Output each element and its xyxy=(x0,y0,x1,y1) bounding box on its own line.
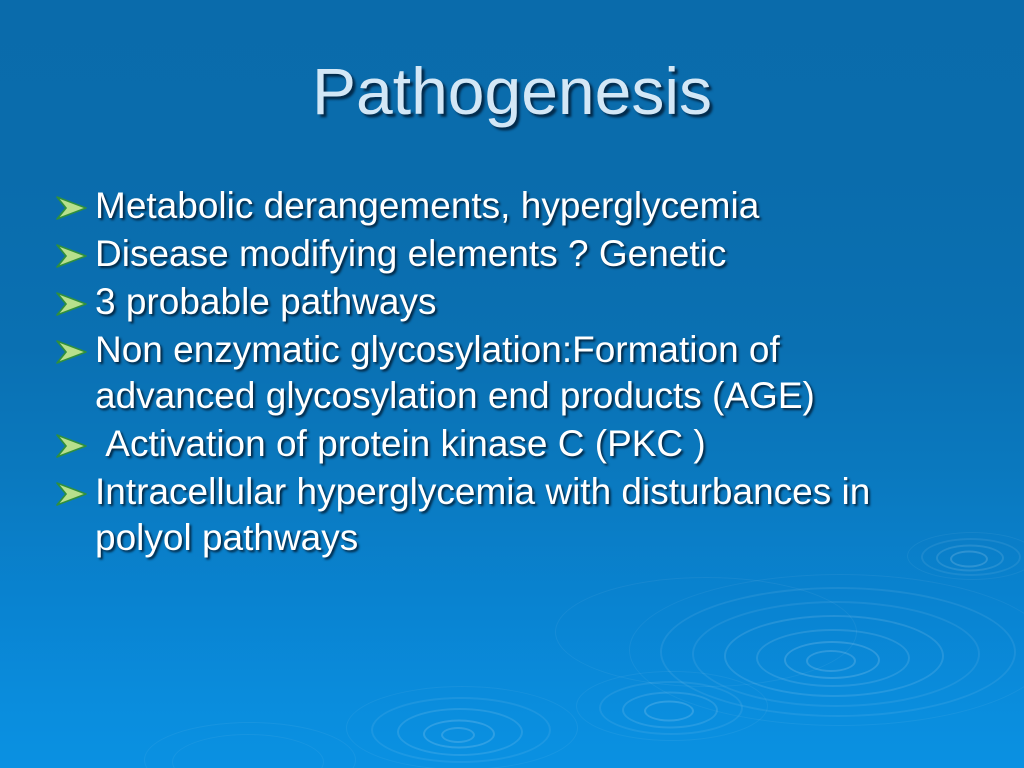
list-item[interactable]: Disease modifying elements ? Genetic xyxy=(55,231,975,277)
list-item-label: Disease modifying elements ? Genetic xyxy=(95,231,975,277)
ripple-ring xyxy=(346,686,578,768)
ripple-ring xyxy=(756,629,910,687)
list-item-label: Metabolic derangements, hyperglycemia xyxy=(95,183,975,229)
list-item[interactable]: Metabolic derangements, hyperglycemia xyxy=(55,183,975,229)
bullet-list: Metabolic derangements, hyperglycemia Di… xyxy=(55,183,975,563)
ripple-ring xyxy=(555,577,857,687)
ripple-ring xyxy=(692,601,980,707)
ripple-ring xyxy=(371,697,551,763)
green-arrowhead-bullet-icon xyxy=(55,279,95,318)
green-arrowhead-bullet-icon xyxy=(55,421,95,460)
ripple-ring xyxy=(441,727,475,743)
ripple-ring xyxy=(806,650,856,672)
ripple-ring xyxy=(172,734,324,768)
list-item-label: 3 probable pathways xyxy=(95,279,975,325)
list-item[interactable]: Activation of protein kinase C (PKC ) xyxy=(55,421,975,467)
ripple-ring xyxy=(599,681,743,735)
ripple-ring xyxy=(397,708,523,756)
ripple-ring xyxy=(629,574,1024,726)
green-arrowhead-bullet-icon xyxy=(55,231,95,270)
ripple-ring xyxy=(576,671,768,741)
ripple-ring xyxy=(660,587,1016,717)
ripple-ring xyxy=(622,692,718,729)
ripple-ring xyxy=(724,615,944,697)
list-item[interactable]: Non enzymatic glycosylation:Formation of… xyxy=(55,327,975,419)
green-arrowhead-bullet-icon xyxy=(55,469,95,508)
ripple-ring xyxy=(784,641,880,679)
green-arrowhead-bullet-icon xyxy=(55,327,95,366)
list-item-label: Activation of protein kinase C (PKC ) xyxy=(95,421,975,467)
presentation-slide: Pathogenesis Metabolic derangements, hyp… xyxy=(0,0,1024,768)
list-item[interactable]: 3 probable pathways xyxy=(55,279,975,325)
ripple-ring xyxy=(423,720,495,749)
list-item[interactable]: Intracellular hyperglycemia with disturb… xyxy=(55,469,975,561)
green-arrowhead-bullet-icon xyxy=(55,183,95,222)
list-item-label: Non enzymatic glycosylation:Formation of… xyxy=(95,327,975,419)
ripple-ring xyxy=(144,722,356,768)
slide-title: Pathogenesis xyxy=(0,52,1024,130)
ripple-ring xyxy=(644,701,694,722)
list-item-label: Intracellular hyperglycemia with disturb… xyxy=(95,469,975,561)
